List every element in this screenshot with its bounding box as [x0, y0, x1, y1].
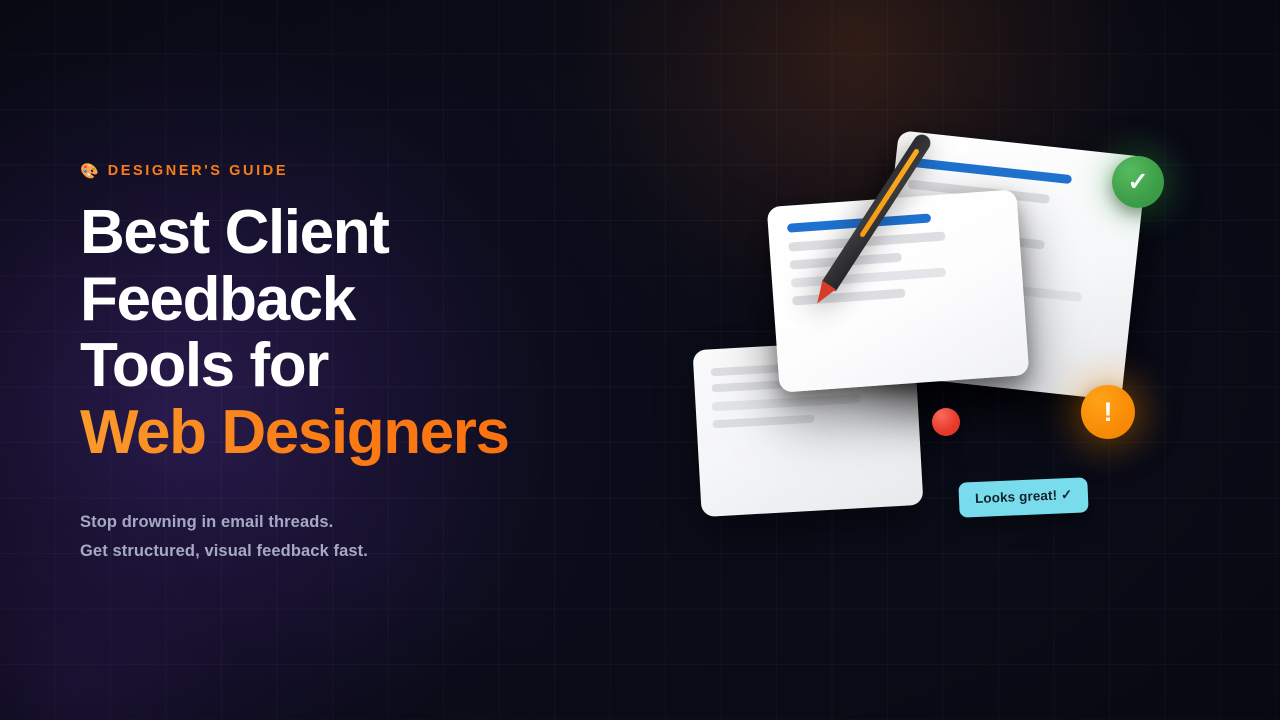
approved-check-badge: ✓ — [1112, 156, 1164, 208]
card-accent-bar — [910, 158, 1072, 184]
eyebrow-text: DESIGNER'S GUIDE — [108, 163, 288, 179]
palette-icon: 🎨 — [80, 164, 99, 179]
card-text-line — [791, 268, 946, 288]
attention-alert-badge: ! — [1081, 385, 1135, 439]
hero-banner: 🎨 DESIGNER'S GUIDE Best Client Feedback … — [0, 0, 1280, 720]
headline-line-1: Best Client — [80, 200, 640, 267]
headline-line-4-accent: Web Designers — [80, 400, 640, 467]
page-title: Best Client Feedback Tools for Web Desig… — [80, 200, 640, 467]
check-icon: ✓ — [1128, 167, 1149, 197]
red-marker-dot — [932, 408, 960, 436]
exclamation-icon: ! — [1104, 397, 1113, 428]
headline-line-3: Tools for — [80, 333, 640, 400]
hero-subcopy: Stop drowning in email threads. Get stru… — [80, 508, 640, 566]
card-text-line — [712, 415, 814, 429]
card-text-line — [792, 289, 905, 306]
feedback-illustration: ✏️ ✓ ! Looks great! ✓ — [660, 100, 1280, 620]
subcopy-line-1: Stop drowning in email threads. — [80, 508, 640, 537]
feedback-callout-bubble: Looks great! ✓ — [958, 477, 1089, 517]
card-text-line — [711, 394, 860, 411]
front-middle-card — [767, 189, 1030, 392]
subcopy-line-2: Get structured, visual feedback fast. — [80, 537, 640, 566]
eyebrow-label: 🎨 DESIGNER'S GUIDE — [80, 160, 640, 182]
hero-copy-block: 🎨 DESIGNER'S GUIDE Best Client Feedback … — [80, 160, 640, 567]
headline-line-2: Feedback — [80, 267, 640, 334]
